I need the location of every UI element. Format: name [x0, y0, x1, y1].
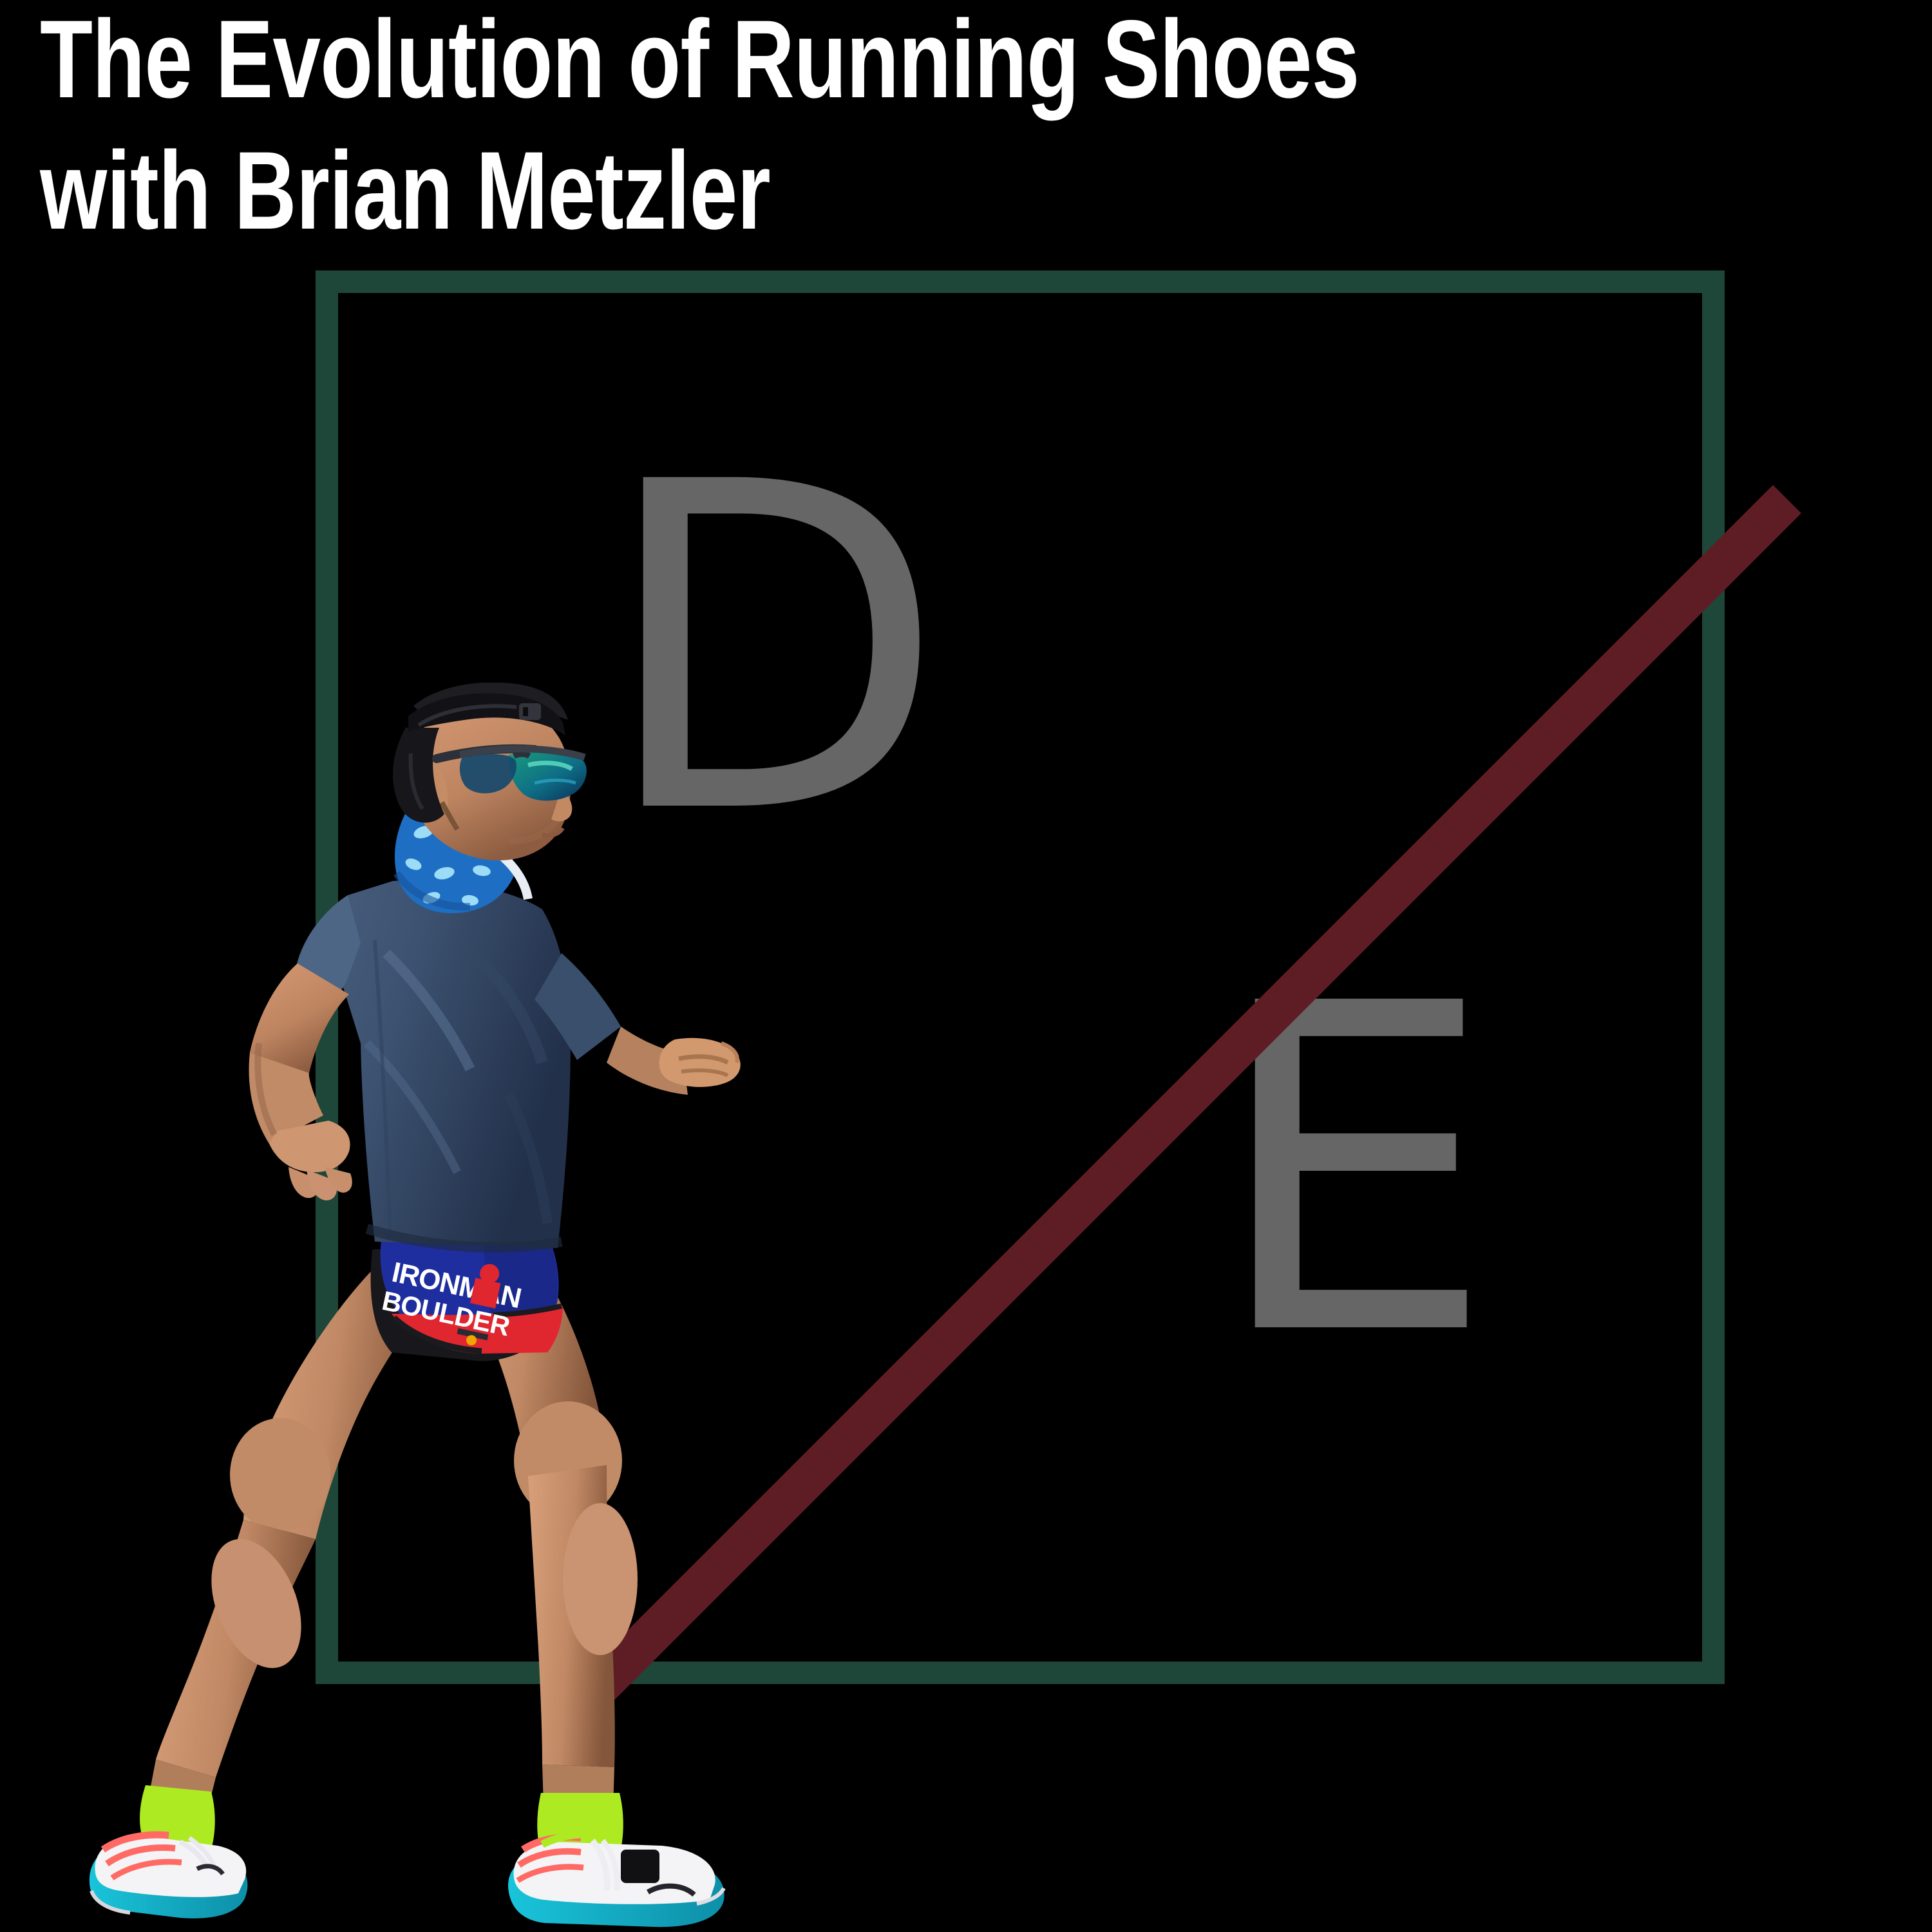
- monogram-letter-e: E: [1211, 947, 1495, 1397]
- runner-photo: IRONMAN BOULDER: [84, 683, 766, 1932]
- running-shoe-front: [508, 1834, 724, 1927]
- cover-title: The Evolution of Running Shoes with Bria…: [40, 12, 1779, 238]
- runner-back-leg: [90, 1265, 431, 1918]
- title-line-1: The Evolution of Running Shoes: [40, 12, 1396, 107]
- cover-art-canvas: D E: [0, 0, 1932, 1932]
- running-shoe-back: [90, 1834, 248, 1918]
- runner-back-arm: [249, 963, 352, 1200]
- title-line-2: with Brian Metzler: [40, 143, 1396, 238]
- runner-shorts: IRONMAN BOULDER: [371, 1240, 563, 1361]
- timing-chip-icon: [621, 1850, 659, 1883]
